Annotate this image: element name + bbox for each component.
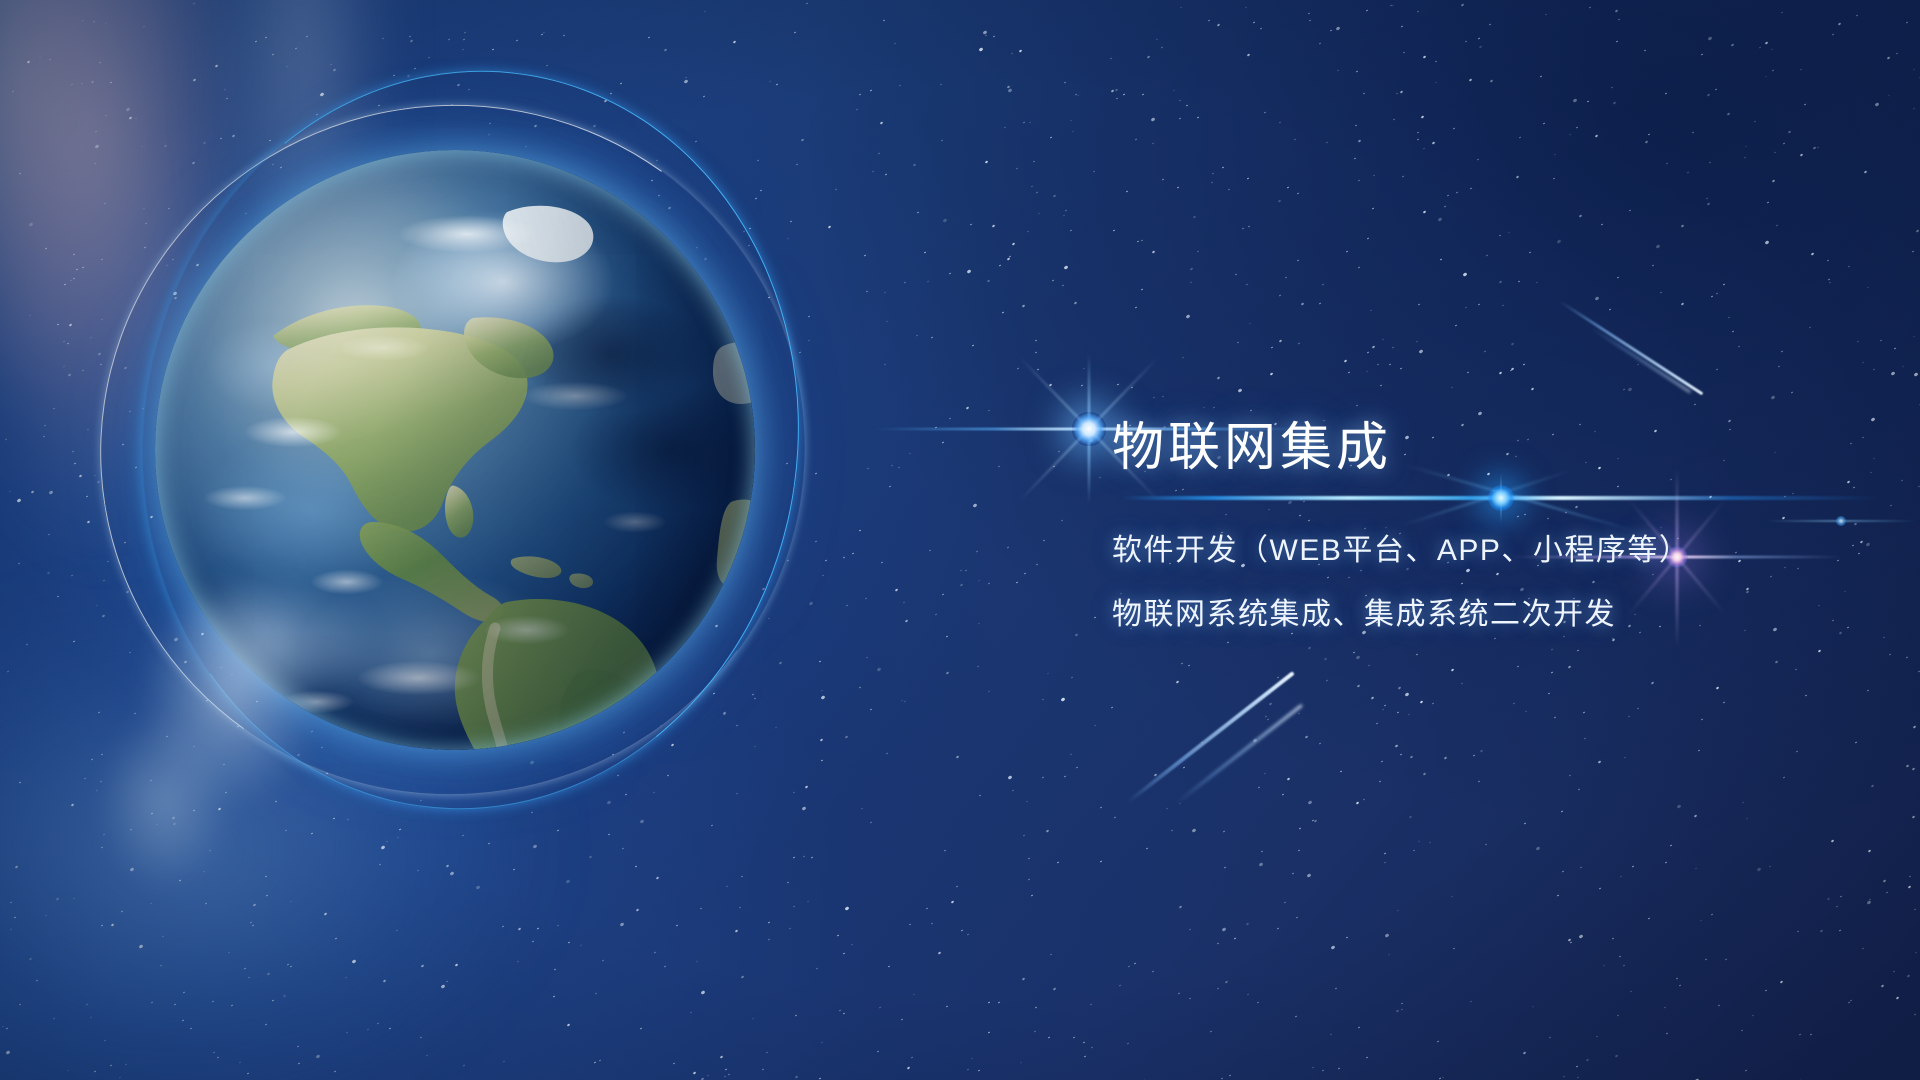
- star-flare-primary-icon: [1088, 428, 1089, 429]
- banner-copy: 物联网集成 软件开发（WEB平台、APP、小程序等） 物联网系统集成、集成系统二…: [1112, 418, 1872, 633]
- meteor-streak-upper-right: [1559, 300, 1703, 395]
- banner-subtitle-1: 软件开发（WEB平台、APP、小程序等）: [1112, 533, 1872, 569]
- rim-light: [155, 150, 755, 750]
- meteor-streak-lower-center-ghost: [1175, 704, 1303, 805]
- earth-globe: [155, 150, 755, 750]
- meteor-streak-upper-right-ghost: [1589, 326, 1691, 393]
- hero-banner: 物联网集成 软件开发（WEB平台、APP、小程序等） 物联网系统集成、集成系统二…: [0, 0, 1920, 1080]
- banner-subtitle-2: 物联网系统集成、集成系统二次开发: [1112, 597, 1872, 633]
- planet-sphere: [155, 150, 755, 750]
- banner-headline: 物联网集成: [1112, 418, 1872, 479]
- meteor-streak-lower-center: [1127, 671, 1295, 803]
